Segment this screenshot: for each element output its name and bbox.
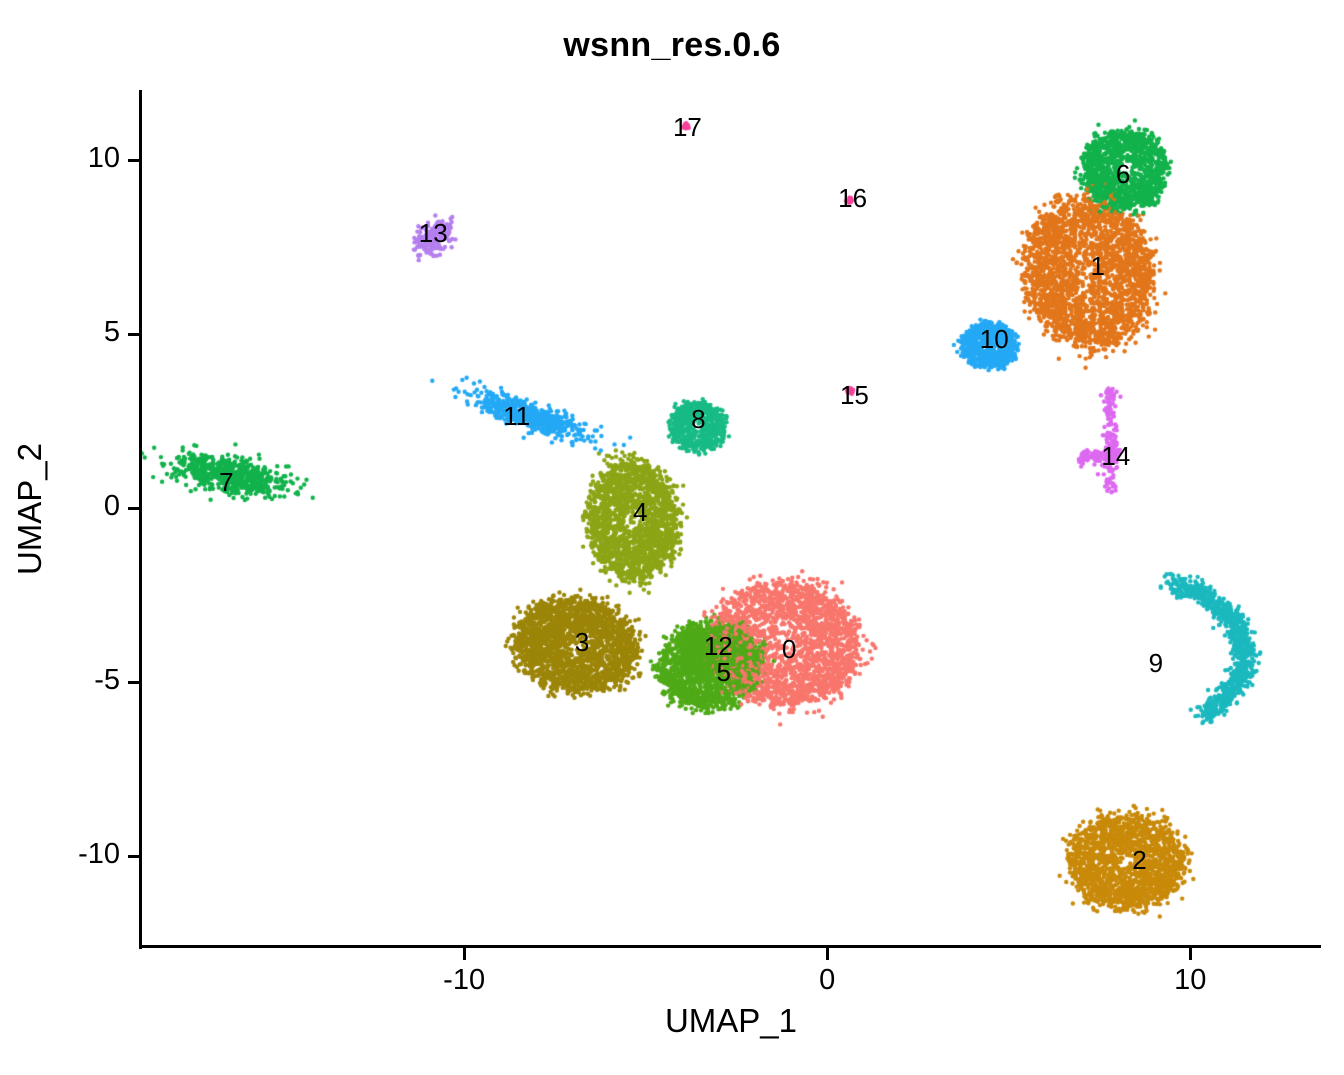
scatter-points-canvas bbox=[141, 90, 1321, 947]
y-tick-label: 10 bbox=[88, 144, 120, 173]
x-axis-line bbox=[139, 945, 1321, 948]
x-tick-label: 0 bbox=[777, 966, 877, 995]
y-tick-label: -10 bbox=[78, 840, 120, 869]
x-tick-label: 10 bbox=[1140, 966, 1240, 995]
x-tick-label: -10 bbox=[414, 966, 514, 995]
y-axis-line bbox=[139, 90, 142, 949]
y-tick-mark bbox=[128, 855, 140, 858]
y-tick-mark bbox=[128, 333, 140, 336]
y-tick-label: -5 bbox=[94, 666, 120, 695]
y-tick-mark bbox=[128, 159, 140, 162]
y-tick-label: 5 bbox=[104, 318, 120, 347]
x-tick-mark bbox=[826, 948, 829, 960]
umap-cluster-plot: wsnn_res.0.6 01234567891011121314151617 … bbox=[0, 0, 1344, 1075]
y-tick-mark bbox=[128, 507, 140, 510]
x-tick-mark bbox=[1189, 948, 1192, 960]
y-tick-mark bbox=[128, 681, 140, 684]
y-tick-label: 0 bbox=[104, 492, 120, 521]
x-tick-mark bbox=[463, 948, 466, 960]
x-axis-title: UMAP_1 bbox=[141, 1002, 1321, 1040]
page-title: wsnn_res.0.6 bbox=[0, 26, 1344, 65]
y-axis-title: UMAP_2 bbox=[11, 359, 49, 659]
plot-panel: 01234567891011121314151617 bbox=[141, 90, 1321, 947]
